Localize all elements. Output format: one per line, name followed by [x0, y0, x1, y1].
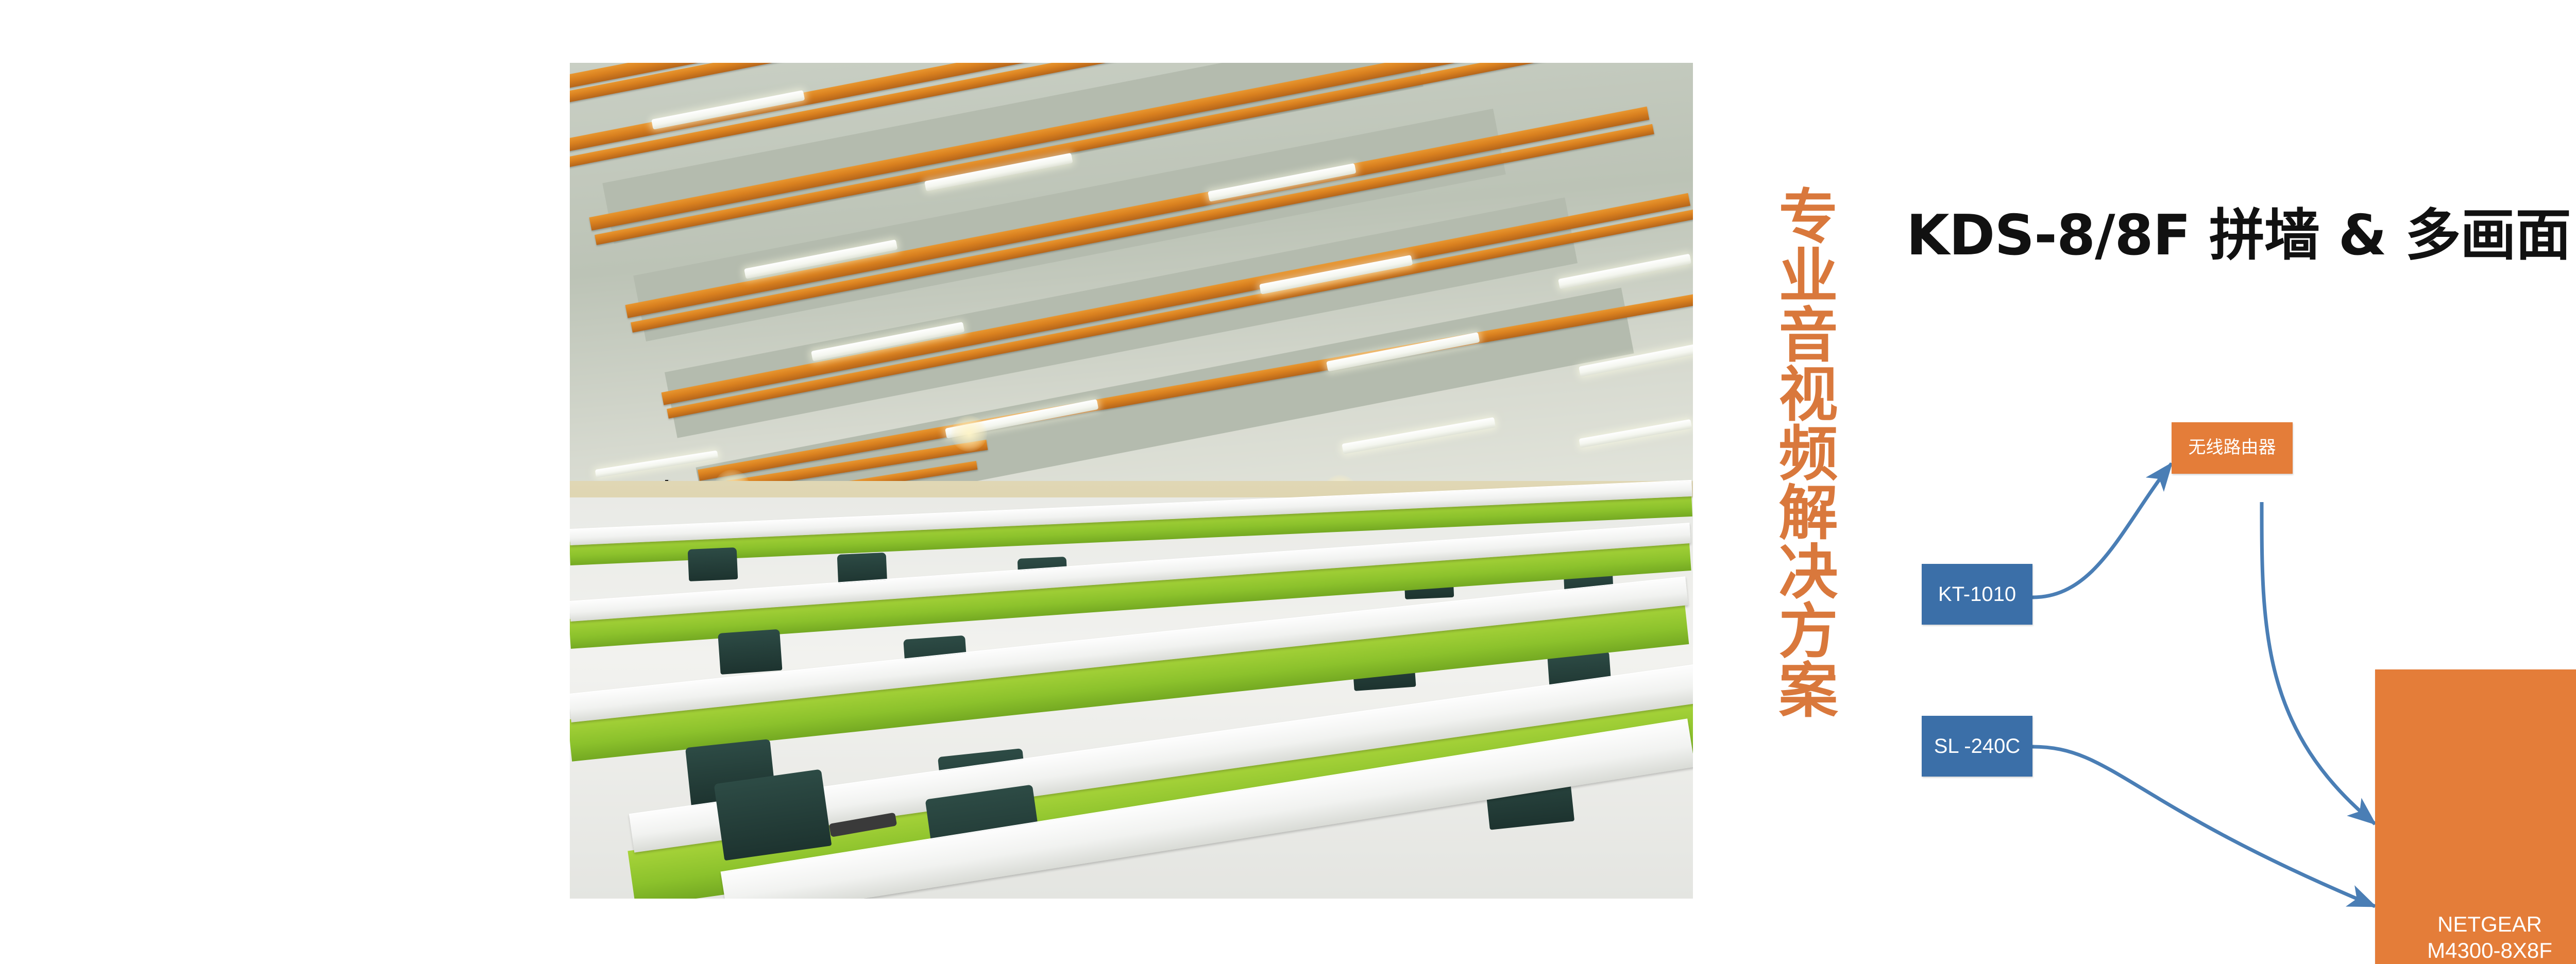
chair: [718, 629, 782, 675]
node-label: SL -240C: [1934, 734, 2021, 759]
node-netgear-switch[interactable]: NETGEAR M4300-8X8F: [2375, 669, 2576, 964]
ceiling-spotlight: [951, 416, 987, 452]
chair: [714, 769, 832, 861]
node-kt-1010[interactable]: KT-1010: [1922, 564, 2032, 625]
slide-canvas: 专业音视频解决方案 KDS-8/8F 拼墙 & 多画面: [0, 0, 2576, 964]
node-label-line2: M4300-8X8F: [2427, 937, 2552, 963]
node-sl-240c[interactable]: SL -240C: [1922, 716, 2032, 777]
vertical-slogan: 专业音视频解决方案: [1741, 185, 1834, 718]
node-label: 无线路由器: [2189, 437, 2276, 458]
chair: [688, 547, 738, 581]
node-wireless-router[interactable]: 无线路由器: [2172, 422, 2293, 474]
node-label-line1: NETGEAR: [2437, 911, 2542, 937]
system-diagram: KDS-8/8F 拼墙 & 多画面: [1855, 62, 2576, 906]
lecture-hall-photo: [570, 63, 1693, 899]
node-label: KT-1010: [1938, 582, 2016, 607]
